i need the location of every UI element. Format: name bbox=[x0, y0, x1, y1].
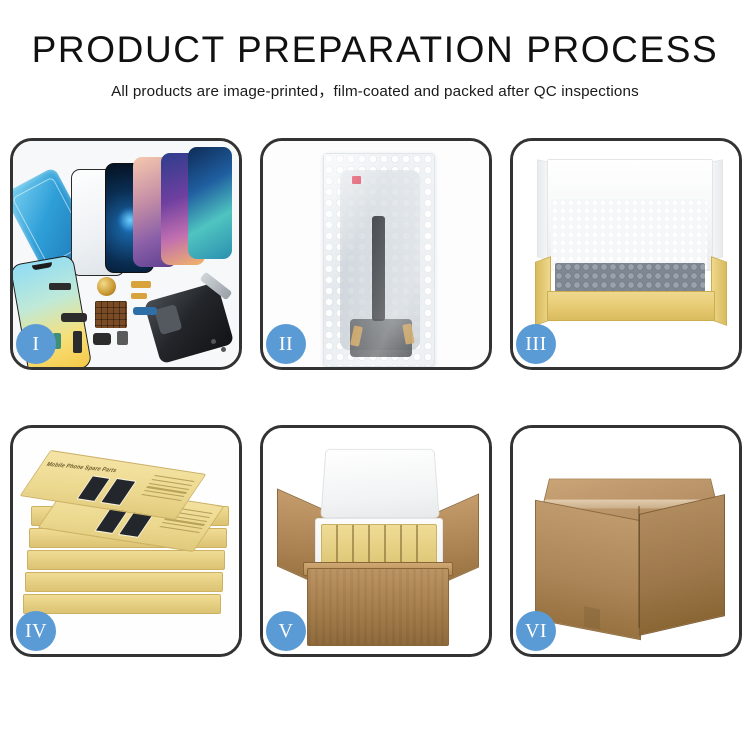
stacked-box-5-icon bbox=[25, 572, 223, 592]
foam-sheet-icon bbox=[551, 199, 707, 271]
flex-cable-part-icon bbox=[61, 313, 87, 322]
bubble-wrap-icon bbox=[323, 153, 435, 367]
step-badge-6: VI bbox=[516, 611, 556, 651]
process-step-2[interactable]: II bbox=[260, 138, 492, 370]
page-header: PRODUCT PREPARATION PROCESS All products… bbox=[0, 0, 750, 101]
foam-lid-icon bbox=[320, 449, 439, 518]
screw-2-icon bbox=[221, 347, 226, 352]
process-step-4[interactable]: Mobile Phone Spare Parts Mobile Phone Sp… bbox=[10, 425, 242, 657]
gold-flex-strip-icon bbox=[131, 281, 151, 288]
process-step-3[interactable]: III bbox=[510, 138, 742, 370]
process-step-grid: I II bbox=[10, 138, 742, 657]
step-badge-1: I bbox=[16, 324, 56, 364]
stacked-box-bottom-icon bbox=[23, 594, 221, 614]
speaker-part-icon bbox=[93, 333, 111, 345]
step-badge-3: III bbox=[516, 324, 556, 364]
box-tray-front-icon bbox=[547, 291, 715, 321]
process-step-6[interactable]: VI bbox=[510, 425, 742, 657]
carton-edge-seam-icon bbox=[638, 506, 640, 628]
page-title: PRODUCT PREPARATION PROCESS bbox=[0, 30, 750, 70]
phone-screen-teal-icon bbox=[188, 147, 232, 259]
stacked-box-4-icon bbox=[27, 550, 225, 570]
ic-chip-grid-icon bbox=[95, 301, 127, 328]
step-badge-4: IV bbox=[16, 611, 56, 651]
carton-body-icon bbox=[307, 568, 449, 646]
wrapped-flex-cable-icon bbox=[372, 216, 385, 321]
step-badge-5: V bbox=[266, 611, 306, 651]
product-preparation-page: PRODUCT PREPARATION PROCESS All products… bbox=[0, 0, 750, 750]
gold-flex-strip-2-icon bbox=[131, 293, 147, 299]
connector-part-icon bbox=[73, 331, 82, 353]
vibrator-part-icon bbox=[117, 331, 128, 345]
box-spec-lines-top-icon bbox=[139, 475, 194, 504]
carton-tab-top-icon bbox=[584, 606, 600, 629]
process-step-1[interactable]: I bbox=[10, 138, 242, 370]
step-badge-2: II bbox=[266, 324, 306, 364]
chip-part-icon bbox=[49, 283, 71, 290]
antenna-flex-icon bbox=[133, 307, 157, 315]
box-label-text-top: Mobile Phone Spare Parts bbox=[45, 462, 118, 475]
page-subtitle: All products are image-printed，film-coat… bbox=[0, 79, 750, 101]
label-sticker-icon bbox=[352, 176, 361, 184]
screw-icon bbox=[211, 339, 216, 344]
carton-side-face-icon bbox=[639, 494, 725, 636]
speaker-coil-icon bbox=[97, 277, 116, 296]
process-step-5[interactable]: V bbox=[260, 425, 492, 657]
